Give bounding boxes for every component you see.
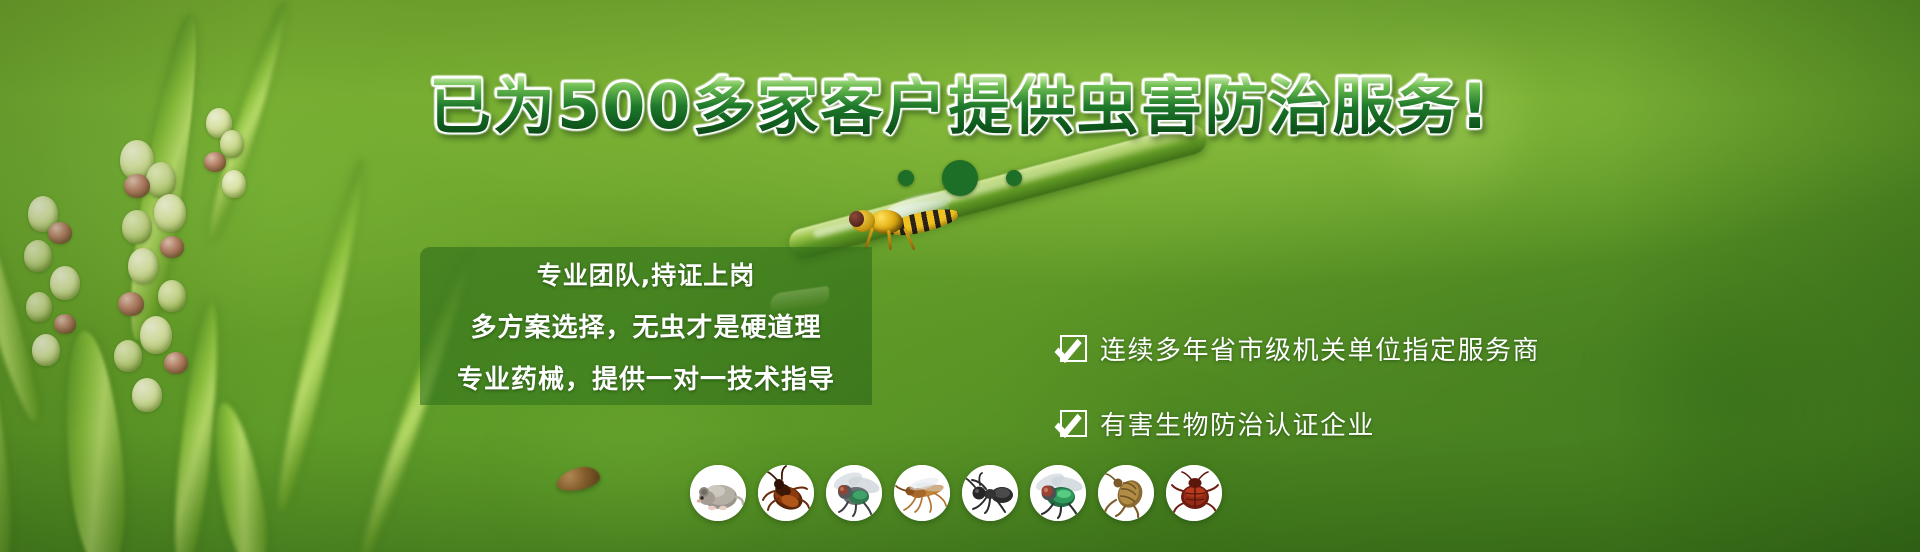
credentials-checklist: 连续多年省市级机关单位指定服务商 有害生物防治认证企业 bbox=[1060, 330, 1540, 442]
dot-small-right-icon bbox=[1006, 170, 1022, 186]
selling-point-2: 多方案选择，无虫才是硬道理 bbox=[470, 307, 821, 344]
pest-control-hero-banner: 已为500多家客户提供虫害防治服务! 专业团队,持证上岗 多方案选择，无虫才是硬… bbox=[0, 0, 1920, 552]
dot-small-left-icon bbox=[898, 170, 914, 186]
bedbug-icon bbox=[1166, 465, 1222, 521]
dot-big-center-icon bbox=[942, 160, 978, 196]
mosquito-icon bbox=[894, 465, 950, 521]
page-title: 已为500多家客户提供虫害防治服务! bbox=[0, 76, 1920, 138]
list-item: 有害生物防治认证企业 bbox=[1060, 405, 1540, 442]
mouse-icon bbox=[690, 465, 746, 521]
decorative-dots bbox=[0, 160, 1920, 196]
pest-type-icon-row bbox=[690, 465, 1222, 521]
flea-icon bbox=[1098, 465, 1154, 521]
housefly-icon bbox=[826, 465, 882, 521]
selling-points-panel: 专业团队,持证上岗 多方案选择，无虫才是硬道理 专业药械，提供一对一技术指导 bbox=[420, 247, 872, 405]
list-item: 连续多年省市级机关单位指定服务商 bbox=[1060, 330, 1540, 367]
credential-label: 有害生物防治认证企业 bbox=[1100, 405, 1375, 442]
checkbox-checked-icon bbox=[1060, 410, 1087, 437]
ant-icon bbox=[962, 465, 1018, 521]
selling-point-3: 专业药械，提供一对一技术指导 bbox=[457, 359, 835, 396]
credential-label: 连续多年省市级机关单位指定服务商 bbox=[1100, 330, 1540, 367]
cockroach-icon bbox=[758, 465, 814, 521]
selling-point-1: 专业团队,持证上岗 bbox=[537, 256, 756, 292]
blowfly-icon bbox=[1030, 465, 1086, 521]
checkbox-checked-icon bbox=[1060, 335, 1087, 362]
